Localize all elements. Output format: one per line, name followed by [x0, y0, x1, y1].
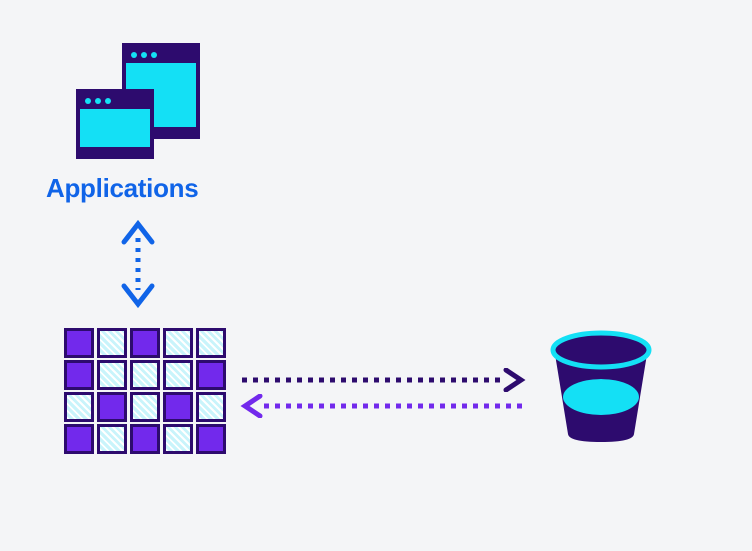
grid-cell: [196, 424, 226, 454]
arrowhead-left-icon: [245, 396, 260, 416]
grid-cell: [64, 328, 94, 358]
data-grid-icon: [64, 328, 226, 454]
bucket-to-grid-arrow: [238, 394, 528, 418]
storage-bucket-icon: [548, 330, 654, 448]
window-dot-icon: [131, 52, 137, 58]
window-titlebar-front: [80, 93, 150, 109]
applications-to-grid-arrow: [116, 218, 160, 310]
grid-cell: [163, 360, 193, 390]
grid-cell: [163, 392, 193, 422]
grid-to-bucket-arrow: [240, 368, 528, 392]
grid-cell: [130, 424, 160, 454]
bucket-contents: [563, 379, 639, 415]
grid-cell: [163, 328, 193, 358]
window-dot-icon: [141, 52, 147, 58]
window-dot-icon: [151, 52, 157, 58]
grid-cell: [130, 360, 160, 390]
applications-label: Applications: [46, 173, 198, 204]
application-windows-icon: [76, 43, 200, 159]
grid-cell: [130, 328, 160, 358]
diagram-canvas: Applications: [0, 0, 752, 551]
grid-cell: [97, 424, 127, 454]
window-dot-icon: [95, 98, 101, 104]
grid-cell: [97, 328, 127, 358]
grid-cell: [64, 392, 94, 422]
grid-cell: [196, 360, 226, 390]
grid-cell: [64, 360, 94, 390]
grid-cell: [130, 392, 160, 422]
window-dot-icon: [85, 98, 91, 104]
bucket-rim: [553, 333, 649, 367]
grid-cell: [196, 392, 226, 422]
window-titlebar-back: [126, 47, 196, 63]
grid-cell: [64, 424, 94, 454]
grid-cell: [196, 328, 226, 358]
window-dot-icon: [105, 98, 111, 104]
grid-cell: [97, 392, 127, 422]
window-screen-front: [80, 109, 150, 147]
grid-cell: [97, 360, 127, 390]
application-window-front: [76, 89, 154, 159]
grid-cell: [163, 424, 193, 454]
arrowhead-right-icon: [506, 370, 521, 390]
